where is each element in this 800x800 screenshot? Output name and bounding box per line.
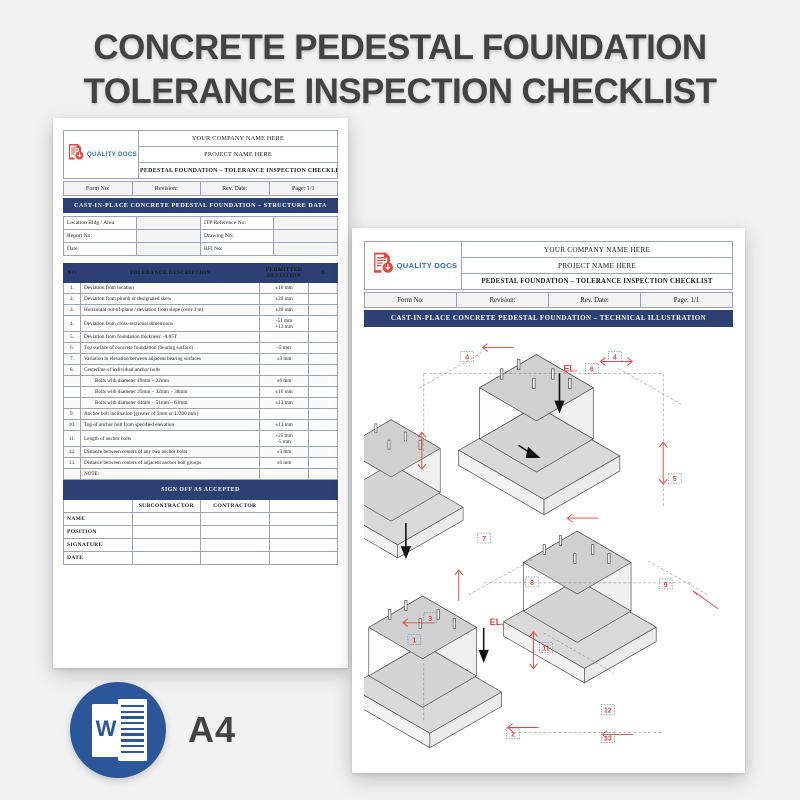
row-check-cell[interactable] [309, 398, 338, 409]
signoff-input-cell[interactable] [132, 552, 201, 565]
row-description: Bolts with diameter 25mm – 32mm – 38mm [81, 387, 260, 398]
svg-text:4: 4 [613, 354, 617, 361]
document-page-checklist[interactable]: QUALITY DOCS YOUR COMPANY NAME HERE PROJ… [53, 118, 348, 668]
paper-size-label: A4 [188, 709, 236, 751]
row-description: Deviation from cross-sectional dimension… [81, 316, 260, 332]
signoff-input-cell[interactable] [201, 539, 270, 552]
signoff-row[interactable]: DATE [64, 552, 338, 565]
row-number [64, 387, 81, 398]
signoff-row-label: NAME [64, 513, 133, 526]
doc1-revision[interactable]: Revision: [132, 182, 201, 196]
signoff-col-blank [64, 500, 133, 513]
row-number: 7. [64, 354, 81, 365]
col-header-permitted-deviation: PERMITTED DEVIATION [260, 264, 309, 283]
technical-illustration: EL. EL. [364, 333, 733, 753]
table-row[interactable]: 6.Top surface of concrete foundation (be… [64, 343, 338, 354]
row-permitted-deviation: -51 mm +13 mm [260, 316, 309, 332]
row-check-cell[interactable] [309, 420, 338, 431]
row-check-cell[interactable] [309, 431, 338, 447]
doc1-logo-cell: QUALITY DOCS [64, 131, 139, 179]
row-permitted-deviation: ±13 mm [260, 398, 309, 409]
doc1-form-title: PEDESTAL FOUNDATION – TOLERANCE INSPECTI… [139, 163, 338, 179]
row-permitted-deviation: ±13 mm [260, 420, 309, 431]
row-permitted-deviation [260, 409, 309, 420]
row-description: Centerline of individual anchor bolts [81, 365, 260, 376]
svg-text:7: 7 [482, 536, 486, 543]
field-label-rfi-no: RFI No: [200, 243, 273, 256]
table-row[interactable]: 2.Deviation from plumb or designated ske… [64, 294, 338, 305]
svg-text:2: 2 [511, 731, 515, 738]
field-input-report-no[interactable] [137, 230, 201, 243]
svg-text:13: 13 [604, 735, 612, 742]
row-permitted-deviation: -5 mm [260, 343, 309, 354]
row-number [64, 469, 81, 480]
microsoft-word-icon: W [70, 682, 166, 778]
row-number: 4. [64, 316, 81, 332]
tolerance-description-table: NO TOLERANCE DESCRIPTION PERMITTED DEVIA… [63, 263, 338, 480]
signoff-row[interactable]: SIGNATURE [64, 539, 338, 552]
signoff-col-subcontractor: SUBCONTRACTOR [132, 500, 201, 513]
doc2-project-name: PROJECT NAME HERE [462, 258, 733, 274]
row-permitted-deviation [260, 469, 309, 480]
field-input-date[interactable] [137, 243, 201, 256]
field-input-drawing-no[interactable] [274, 230, 338, 243]
signoff-header-row: SUBCONTRACTOR CONTRACTOR [64, 500, 338, 513]
row-description: Bolts with diameter 19mm – 22mm [81, 376, 260, 387]
row-number: 11. [64, 431, 81, 447]
signoff-input-cell[interactable] [132, 526, 201, 539]
row-number: 6. [64, 343, 81, 354]
row-description: Horizontal out-of-plane / deviation from… [81, 305, 260, 316]
row-check-cell[interactable] [309, 332, 338, 343]
signoff-input-cell[interactable] [132, 539, 201, 552]
signoff-input-cell[interactable] [201, 526, 270, 539]
row-number [64, 376, 81, 387]
row-number: 1. [64, 283, 81, 294]
row-permitted-deviation: +25 mm -5 mm [260, 431, 309, 447]
signoff-input-cell[interactable] [269, 513, 338, 526]
row-number [64, 398, 81, 409]
row-permitted-deviation [260, 332, 309, 343]
svg-text:9: 9 [664, 582, 668, 589]
row-description: Bolts with diameter 44mm – 51mm – 61mm [81, 398, 260, 409]
svg-text:1: 1 [412, 638, 416, 645]
row-check-cell[interactable] [309, 283, 338, 294]
row-check-cell[interactable] [309, 294, 338, 305]
page-title-line-1: CONCRETE PEDESTAL FOUNDATION [0, 26, 800, 70]
col-header-no: NO [64, 264, 81, 283]
row-permitted-deviation: ±20 mm [260, 305, 309, 316]
svg-text:8: 8 [530, 580, 534, 587]
table-row[interactable]: Bolts with diameter 19mm – 22mm±6 mm [64, 376, 338, 387]
page-title-line-2: TOLERANCE INSPECTION CHECKLIST [0, 70, 800, 114]
page-title: CONCRETE PEDESTAL FOUNDATION TOLERANCE I… [0, 26, 800, 114]
field-label-date: Date: [64, 243, 137, 256]
row-number: 10. [64, 420, 81, 431]
row-check-cell[interactable] [309, 376, 338, 387]
row-permitted-deviation: ±6 mm [260, 376, 309, 387]
table-row[interactable]: 10.Top of anchor bolt from specified ele… [64, 420, 338, 431]
document-download-icon [65, 142, 85, 167]
field-input-rfi-no[interactable] [274, 243, 338, 256]
doc2-form-no[interactable]: Form No: [365, 293, 457, 308]
signoff-row-label: DATE [64, 552, 133, 565]
row-permitted-deviation: ±3 mm [260, 354, 309, 365]
svg-text:3: 3 [428, 616, 432, 623]
signoff-input-cell[interactable] [269, 552, 338, 565]
row-description: Top of anchor bolt from specified elevat… [81, 420, 260, 431]
table-row[interactable]: NOTE: [64, 469, 338, 480]
row-description: Deviation from plumb or designated skew [81, 294, 260, 305]
table-row[interactable]: 4.Deviation from cross-sectional dimensi… [64, 316, 338, 332]
field-label-drawing-no: Drawing No: [200, 230, 273, 243]
signoff-row-label: SIGNATURE [64, 539, 133, 552]
row-permitted-deviation: ±3 mm [260, 447, 309, 458]
row-check-cell[interactable] [309, 316, 338, 332]
doc1-rev-date[interactable]: Rev. Date: [201, 182, 270, 196]
table-row[interactable]: Bolts with diameter 44mm – 51mm – 61mm±1… [64, 398, 338, 409]
row-check-cell[interactable] [309, 447, 338, 458]
table-row[interactable]: Bolts with diameter 25mm – 32mm – 38mm±1… [64, 387, 338, 398]
doc1-structure-data-fields: Location Bldg / Area: ITP Reference No: … [63, 216, 338, 256]
document-download-icon [369, 250, 395, 281]
doc1-project-name: PROJECT NAME HERE [139, 147, 338, 163]
table-row[interactable]: 9.Anchor bolt inclination [greater of 5m… [64, 409, 338, 420]
row-check-cell[interactable] [309, 365, 338, 376]
row-check-cell[interactable] [309, 458, 338, 469]
word-icon-letter: W [94, 718, 118, 740]
svg-text:12: 12 [604, 708, 612, 715]
row-number: 5. [64, 332, 81, 343]
doc2-revision[interactable]: Revision: [457, 293, 549, 308]
quality-docs-logo: QUALITY DOCS [64, 142, 138, 167]
row-permitted-deviation: ±10 mm [260, 283, 309, 294]
document-page-illustration[interactable]: QUALITY DOCS YOUR COMPANY NAME HERE PROJ… [352, 228, 745, 773]
doc2-form-title: PEDESTAL FOUNDATION – TOLERANCE INSPECTI… [462, 274, 733, 290]
row-description: Distance between centers of adjacent anc… [81, 458, 260, 469]
signoff-col-contractor: CONTRACTOR [201, 500, 270, 513]
svg-text:4: 4 [465, 354, 469, 361]
doc2-rev-date[interactable]: Rev. Date: [549, 293, 641, 308]
table-row[interactable]: 12.Distance between centers of any two a… [64, 447, 338, 458]
row-permitted-deviation: ±20 mm [260, 294, 309, 305]
signoff-row-label: POSITION [64, 526, 133, 539]
row-check-cell[interactable] [309, 409, 338, 420]
table-row[interactable]: 7.Variation in elevation between adjacen… [64, 354, 338, 365]
table-row[interactable]: 8.Centerline of individual anchor bolts [64, 365, 338, 376]
signoff-input-cell[interactable] [269, 526, 338, 539]
row-permitted-deviation: ±6 mm [260, 458, 309, 469]
svg-text:11: 11 [542, 646, 549, 653]
row-description: Deviation from foundation thickness: -0.… [81, 332, 260, 343]
signoff-input-cell[interactable] [201, 552, 270, 565]
doc1-meta-row: Form No: Revision: Rev. Date: Page: 1/1 [63, 181, 338, 196]
field-input-location[interactable] [137, 217, 201, 230]
field-label-itp-ref: ITP Reference No: [200, 217, 273, 230]
table-row[interactable]: 13.Distance between centers of adjacent … [64, 458, 338, 469]
row-description: Anchor bolt inclination [greater of 5mm … [81, 409, 260, 420]
signoff-input-cell[interactable] [269, 539, 338, 552]
table-row[interactable]: 1.Deviation from location±10 mm [64, 283, 338, 294]
field-label-report-no: Report No: [64, 230, 137, 243]
row-check-cell[interactable] [309, 343, 338, 354]
row-description: NOTE: [81, 469, 260, 480]
row-description: Top surface of concrete foundation (bear… [81, 343, 260, 354]
row-check-cell[interactable] [309, 469, 338, 480]
doc2-page-no: Page: 1/1 [641, 293, 733, 308]
row-number: 9. [64, 409, 81, 420]
doc2-header-table: QUALITY DOCS YOUR COMPANY NAME HERE PROJ… [364, 241, 733, 290]
quality-docs-logo: QUALITY DOCS [365, 250, 461, 281]
table-row[interactable]: 5.Deviation from foundation thickness: -… [64, 332, 338, 343]
field-input-itp-ref[interactable] [274, 217, 338, 230]
signoff-col-extra [269, 500, 338, 513]
row-number: 8. [64, 365, 81, 376]
row-number: 13. [64, 458, 81, 469]
signoff-band: SIGN OFF AS ACCEPTED [64, 481, 338, 500]
svg-text:5: 5 [673, 476, 677, 483]
logo-wordmark: QUALITY DOCS [87, 151, 137, 158]
file-format-badge: W A4 [70, 682, 236, 778]
row-description: Deviation from location [81, 283, 260, 294]
row-number: 12. [64, 447, 81, 458]
col-header-d: D [309, 264, 338, 283]
table-row[interactable]: 11.Length of anchor bolts+25 mm -5 mm [64, 431, 338, 447]
doc1-form-no[interactable]: Form No: [64, 182, 133, 196]
doc1-page-no: Page: 1/1 [269, 182, 338, 196]
signoff-input-cell[interactable] [201, 513, 270, 526]
row-number: 2. [64, 294, 81, 305]
doc2-company-name: YOUR COMPANY NAME HERE [462, 242, 733, 258]
signoff-input-cell[interactable] [132, 513, 201, 526]
row-check-cell[interactable] [309, 354, 338, 365]
svg-text:EL.: EL. [563, 363, 577, 373]
signoff-row[interactable]: POSITION [64, 526, 338, 539]
doc2-logo-cell: QUALITY DOCS [365, 242, 462, 290]
row-permitted-deviation: ±10 mm [260, 387, 309, 398]
row-check-cell[interactable] [309, 305, 338, 316]
doc2-section-band-technical-illustration: CAST-IN-PLACE CONCRETE PEDESTAL FOUNDATI… [364, 310, 733, 327]
svg-text:6: 6 [590, 366, 594, 373]
word-icon-lines [121, 705, 144, 756]
doc1-section-band-structure-data: CAST-IN-PLACE CONCRETE PEDESTAL FOUNDATI… [63, 198, 338, 213]
tolerance-table-header-row: NO TOLERANCE DESCRIPTION PERMITTED DEVIA… [64, 264, 338, 283]
logo-wordmark: QUALITY DOCS [397, 261, 458, 270]
table-row[interactable]: 3.Horizontal out-of-plane / deviation fr… [64, 305, 338, 316]
row-description: Distance between centers of any two anch… [81, 447, 260, 458]
doc1-company-name: YOUR COMPANY NAME HERE [139, 131, 338, 147]
row-description: Length of anchor bolts [81, 431, 260, 447]
doc2-meta-row: Form No: Revision: Rev. Date: Page: 1/1 [364, 292, 733, 308]
signoff-row[interactable]: NAME [64, 513, 338, 526]
row-check-cell[interactable] [309, 387, 338, 398]
col-header-description: TOLERANCE DESCRIPTION [81, 264, 260, 283]
row-number: 3. [64, 305, 81, 316]
svg-text:EL.: EL. [490, 617, 504, 627]
field-label-location: Location Bldg / Area: [64, 217, 137, 230]
doc1-header-table: QUALITY DOCS YOUR COMPANY NAME HERE PROJ… [63, 130, 338, 179]
signoff-table: SIGN OFF AS ACCEPTED SUBCONTRACTOR CONTR… [63, 480, 338, 565]
row-description: Variation in elevation between adjacent … [81, 354, 260, 365]
row-permitted-deviation [260, 365, 309, 376]
